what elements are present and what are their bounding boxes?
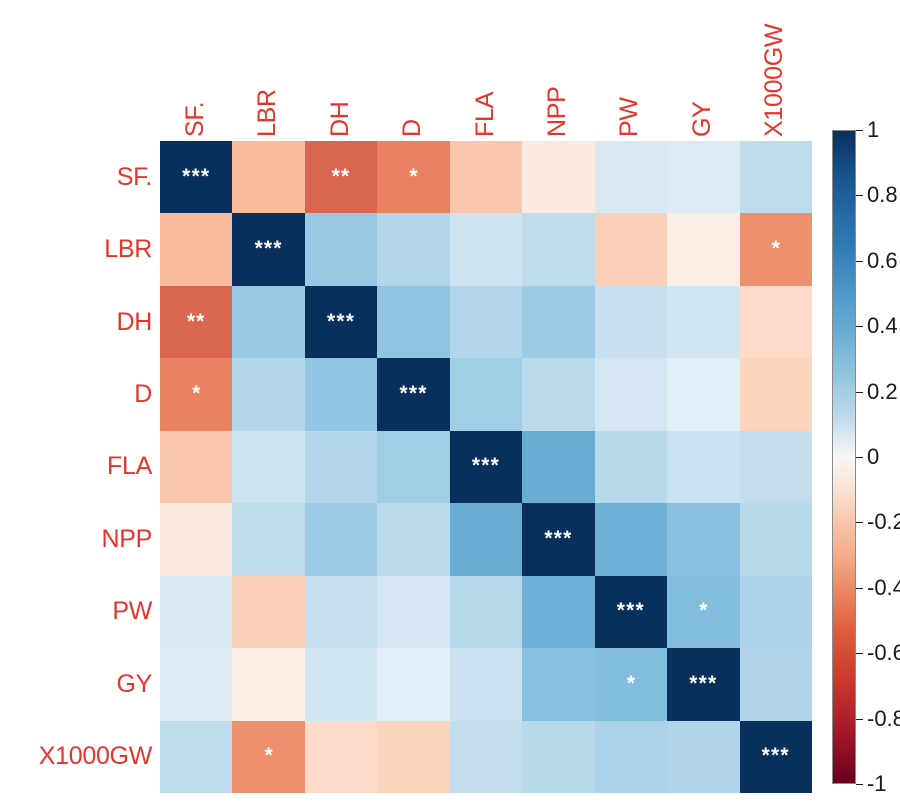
row-label-pw: PW [112,576,152,648]
heatmap-cell [232,141,304,213]
column-label-dh: DH [328,65,353,137]
column-label-d: D [400,65,425,137]
heatmap-cell [232,286,304,358]
heatmap-cell: *** [305,286,377,358]
heatmap-cell [522,358,594,430]
heatmap-cell [305,503,377,575]
heatmap-cell [377,648,449,720]
colorbar-tick-label: 0.4 [867,315,898,337]
heatmap-cell [740,431,812,503]
colorbar-tick-label: -0.2 [867,511,900,533]
heatmap-cell [305,431,377,503]
colorbar-tick [856,588,863,589]
column-label-gy: GY [690,65,715,137]
column-label-sf: SF. [183,65,208,137]
row-label-fla: FLA [107,431,152,503]
heatmap-cell: * [740,213,812,285]
significance-stars: ** [332,166,351,187]
heatmap-cell [595,721,667,793]
heatmap-cell [305,358,377,430]
significance-stars: * [409,166,417,187]
heatmap-cell [522,213,594,285]
significance-stars: * [772,238,780,259]
heatmap-cell [305,213,377,285]
correlation-heatmap-figure: SF.LBRDHDFLANPPPWGYX1000GW SF.LBRDHDFLAN… [0,0,900,809]
heatmap-cell [740,141,812,213]
heatmap-cell [450,141,522,213]
heatmap-cell [377,576,449,648]
heatmap-cell [160,213,232,285]
colorbar-tick [856,326,863,327]
heatmap-cell [667,213,739,285]
row-label-d: D [134,358,152,430]
colorbar-tick-label: 0.2 [867,381,898,403]
significance-stars: *** [472,455,500,476]
heatmap-cell: * [667,576,739,648]
heatmap-cell [160,576,232,648]
heatmap-cell [450,213,522,285]
significance-stars: * [192,383,200,404]
column-label-pw: PW [617,65,642,137]
heatmap-cell [667,503,739,575]
heatmap-cell: * [232,721,304,793]
colorbar-tick-label: -1 [867,773,887,795]
heatmap-cell: *** [450,431,522,503]
heatmap-cell [160,721,232,793]
column-label-fla: FLA [473,65,498,137]
heatmap-cell [667,286,739,358]
colorbar-tick-label: 0.6 [867,250,898,272]
colorbar-tick [856,130,863,131]
heatmap-cell: *** [740,721,812,793]
colorbar-tick [856,195,863,196]
heatmap-cell [522,576,594,648]
colorbar-tick [856,522,863,523]
heatmap-cell [305,721,377,793]
heatmap-cell [522,141,594,213]
heatmap-cell [522,431,594,503]
heatmap-cell: * [377,141,449,213]
heatmap-cell [232,358,304,430]
heatmap-cell [595,286,667,358]
heatmap-cell [232,648,304,720]
colorbar-tick [856,261,863,262]
heatmap-grid: ************************************* [160,141,812,793]
colorbar-tick [856,784,863,785]
colorbar-tick-label: -0.8 [867,708,900,730]
significance-stars: *** [544,528,572,549]
heatmap-cell [305,576,377,648]
heatmap-cell [377,286,449,358]
colorbar-tick-label: 1 [867,119,879,141]
row-label-gy: GY [116,648,152,720]
colorbar-tick-label: 0.8 [867,184,898,206]
significance-stars: *** [399,383,427,404]
heatmap-cell [667,358,739,430]
colorbar-tick-label: -0.6 [867,642,900,664]
heatmap-cell [667,431,739,503]
heatmap-cell [740,648,812,720]
significance-stars: * [265,745,273,766]
colorbar-tick [856,392,863,393]
heatmap-cell [160,431,232,503]
heatmap-cell [740,576,812,648]
heatmap-cell: ** [305,141,377,213]
colorbar-tick [856,719,863,720]
column-label-lbr: LBR [255,65,280,137]
heatmap-cell [450,648,522,720]
heatmap-cell [595,358,667,430]
heatmap-cell [595,213,667,285]
significance-stars: *** [689,673,717,694]
significance-stars: * [699,600,707,621]
heatmap-cell [305,648,377,720]
row-label-x1000gw: X1000GW [39,721,152,793]
heatmap-cell: *** [377,358,449,430]
significance-stars: *** [762,745,790,766]
significance-stars: *** [182,166,210,187]
heatmap-cell [450,721,522,793]
heatmap-cell [450,576,522,648]
heatmap-cell [232,576,304,648]
significance-stars: *** [327,311,355,332]
heatmap-cell: *** [667,648,739,720]
heatmap-cell [232,431,304,503]
row-label-lbr: LBR [104,213,152,285]
heatmap-cell [740,358,812,430]
heatmap-cell [667,141,739,213]
heatmap-cell [667,721,739,793]
heatmap-cell [160,503,232,575]
heatmap-cell: *** [232,213,304,285]
heatmap-cell [522,648,594,720]
heatmap-cell [522,721,594,793]
heatmap-cell [595,431,667,503]
colorbar-tick-label: -0.4 [867,577,900,599]
heatmap-cell [232,503,304,575]
heatmap-cell: ** [160,286,232,358]
colorbar-tick [856,457,863,458]
heatmap-cell [377,431,449,503]
heatmap-cell: *** [595,576,667,648]
heatmap-cell [450,503,522,575]
row-label-dh: DH [116,286,152,358]
significance-stars: * [627,673,635,694]
heatmap-cell [450,358,522,430]
colorbar-tick [856,653,863,654]
column-axis-labels: SF.LBRDHDFLANPPPWGYX1000GW [160,0,812,141]
heatmap-cell [595,503,667,575]
heatmap-cell: *** [160,141,232,213]
heatmap-cell [595,141,667,213]
row-label-npp: NPP [101,503,152,575]
heatmap-cell [740,286,812,358]
colorbar-gradient [832,130,856,784]
colorbar-legend: 10.80.60.40.20-0.2-0.4-0.6-0.8-1 [832,130,900,790]
heatmap-cell [377,721,449,793]
heatmap-cell: *** [522,503,594,575]
row-axis-labels: SF.LBRDHDFLANPPPWGYX1000GW [0,141,160,793]
colorbar-tick-label: 0 [867,446,879,468]
heatmap-cell [377,503,449,575]
heatmap-cell [377,213,449,285]
column-label-npp: NPP [545,65,570,137]
heatmap-cell [522,286,594,358]
heatmap-cell: * [595,648,667,720]
significance-stars: ** [187,311,206,332]
significance-stars: *** [255,238,283,259]
significance-stars: *** [617,600,645,621]
heatmap-cell: * [160,358,232,430]
column-label-x1000gw: X1000GW [762,65,787,137]
heatmap-cell [740,503,812,575]
heatmap-cell [450,286,522,358]
heatmap-cell [160,648,232,720]
row-label-sf: SF. [117,141,152,213]
